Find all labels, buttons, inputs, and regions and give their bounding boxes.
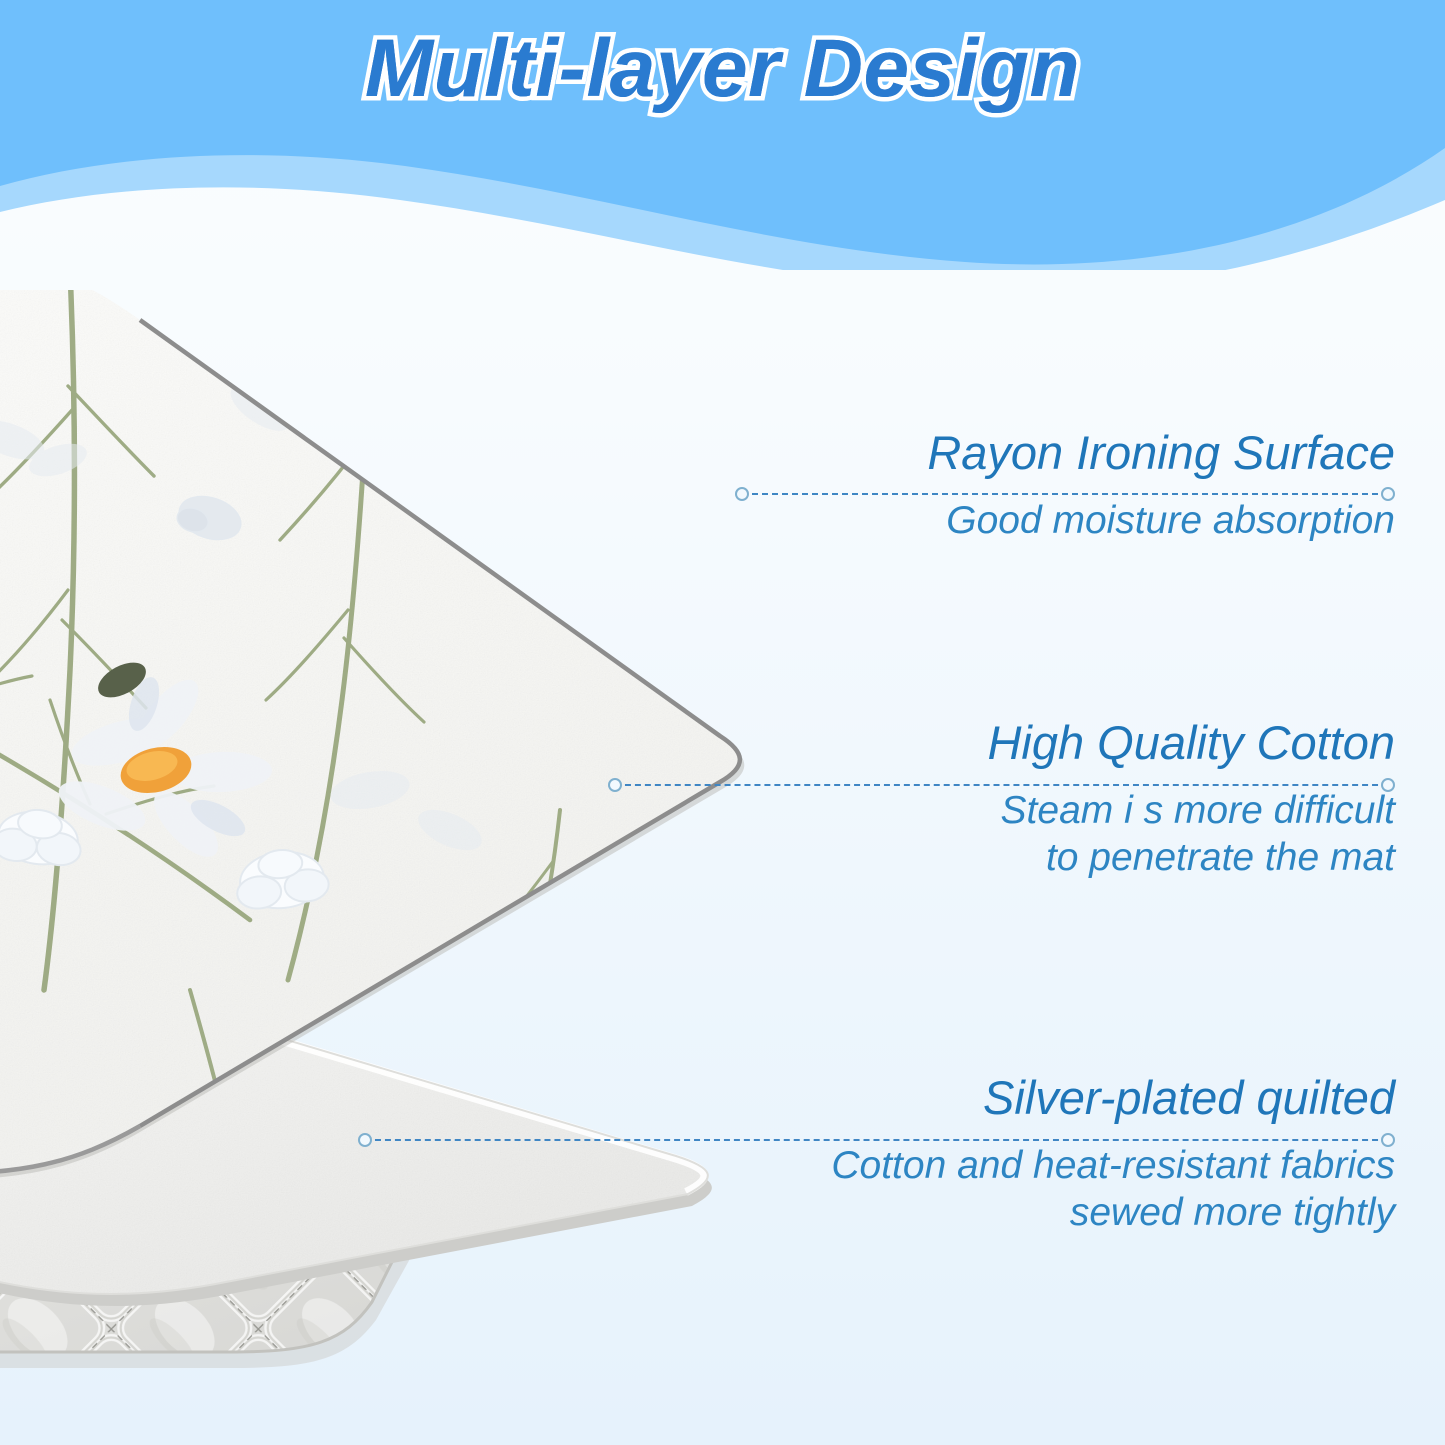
callout-subtitle-line: Good moisture absorption xyxy=(785,497,1395,545)
callout-subtitle-line: Cotton and heat-resistant fabrics xyxy=(785,1142,1395,1190)
callout-title: Silver-plated quilted xyxy=(785,1073,1395,1124)
callout-title: High Quality Cotton xyxy=(785,718,1395,769)
callout-subtitle-line: sewed more tightly xyxy=(785,1189,1395,1237)
callout-rule-spacer xyxy=(785,769,1395,787)
infographic-root: Multi-layer Design Multi-layer Design xyxy=(0,0,1445,1445)
page-title: Multi-layer Design xyxy=(0,22,1445,116)
callout-silver-plated-quilted: Silver-plated quilted Cotton and heat-re… xyxy=(785,1073,1395,1237)
callout-rule-spacer xyxy=(785,1124,1395,1142)
callout-subtitle-line: to penetrate the mat xyxy=(785,834,1395,882)
callout-rule-spacer xyxy=(785,479,1395,497)
callout-subtitle-line: Steam i s more difficult xyxy=(785,787,1395,835)
callout-subtitle: Steam i s more difficult to penetrate th… xyxy=(785,787,1395,882)
callout-subtitle: Cotton and heat-resistant fabrics sewed … xyxy=(785,1142,1395,1237)
callout-high-quality-cotton: High Quality Cotton Steam i s more diffi… xyxy=(785,718,1395,882)
callout-rayon-ironing-surface: Rayon Ironing Surface Good moisture abso… xyxy=(785,428,1395,544)
callout-subtitle: Good moisture absorption xyxy=(785,497,1395,545)
callout-title: Rayon Ironing Surface xyxy=(785,428,1395,479)
product-layer-stack xyxy=(0,290,780,1400)
